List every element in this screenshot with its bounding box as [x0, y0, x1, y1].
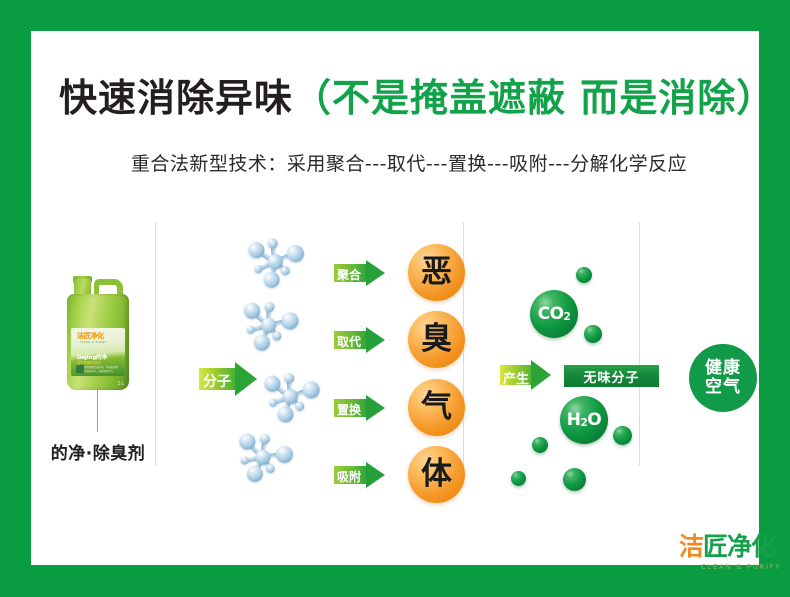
healthy-air-line-2: 空气	[705, 378, 741, 397]
small-green-sphere	[576, 267, 592, 283]
molecule-atom	[260, 317, 276, 333]
h2o-text-b: O	[587, 410, 601, 430]
bottle-label: 洁匠净化 CLEAN & PURIFY Dejing的净 空气清新除臭剂 本品采…	[71, 328, 125, 376]
poster-root: 快速消除异味（不是掩盖遮蔽 而是消除） 重合法新型技术：采用聚合---取代---…	[0, 0, 790, 597]
small-green-sphere	[532, 437, 548, 453]
step-circle-char: 体	[408, 446, 465, 503]
molecule-arrow: 分子	[199, 362, 257, 396]
molecule-atom	[286, 244, 305, 263]
arrow-shape: 分子	[199, 362, 257, 396]
step-circle-char: 臭	[408, 311, 465, 368]
h2o-sphere: H2O	[560, 396, 608, 444]
co2-subscript: 2	[564, 311, 571, 323]
product-caption: 的净·除臭剂	[45, 439, 151, 464]
molecule-atom	[272, 331, 282, 341]
produce-arrow-label: 产生	[503, 368, 529, 387]
arrow-head-icon	[366, 260, 385, 286]
molecule-atom	[269, 399, 277, 407]
healthy-air-line-1: 健康	[705, 359, 741, 378]
bottle-body: 洁匠净化 CLEAN & PURIFY Dejing的净 空气清新除臭剂 本品采…	[67, 294, 129, 390]
molecule-atom	[246, 465, 264, 483]
arrow-head-icon	[531, 360, 551, 390]
step-circle-4: 体	[408, 446, 465, 503]
molecule-atom	[267, 238, 278, 249]
arrow-head-icon	[235, 362, 257, 396]
step-circle-char: 气	[408, 379, 465, 436]
footer-logo-orange-char: 洁	[679, 532, 703, 561]
molecule-atom	[281, 311, 299, 329]
footer-logo-green-chars: 匠净化	[703, 532, 775, 561]
arrow-head-icon	[366, 462, 385, 488]
step-arrow-adsorb: 吸附	[334, 462, 386, 488]
molecule-atom	[265, 463, 275, 473]
bottle-label-seal-icon	[76, 365, 84, 373]
footer-logo: 洁匠净化 ® CLEAN & PURIFY	[679, 534, 787, 576]
h2o-label: H2O	[560, 396, 608, 444]
produce-arrow: 产生	[500, 360, 552, 390]
small-green-sphere	[511, 471, 526, 486]
small-green-sphere	[563, 468, 586, 491]
product-bottle-icon: 洁匠净化 CLEAN & PURIFY Dejing的净 空气清新除臭剂 本品采…	[67, 276, 129, 390]
step-circle-2: 臭	[408, 311, 465, 368]
molecule-atom	[247, 325, 256, 334]
molecule-atom	[253, 334, 270, 351]
molecule-atom	[254, 265, 263, 274]
co2-label: CO2	[530, 290, 578, 338]
registered-mark-icon: ®	[770, 535, 777, 543]
step-circle-1: 恶	[408, 244, 465, 301]
molecule-atom	[240, 456, 249, 465]
molecule-atom	[302, 381, 320, 399]
footer-logo-tagline: CLEAN & PURIFY	[701, 563, 781, 571]
arrow-head-icon	[366, 327, 385, 353]
molecule-atom	[295, 401, 304, 410]
molecule-cluster	[227, 427, 300, 494]
step-arrow-label: 置换	[337, 401, 361, 418]
molecule-atom	[280, 265, 290, 275]
footer-logo-wordmark: 洁匠净化	[679, 534, 775, 559]
molecule-atom	[264, 302, 275, 313]
step-circle-3: 气	[408, 379, 465, 436]
bottle-brand-text: 洁匠净化	[77, 332, 104, 340]
odorless-molecule-bar: 无味分子	[564, 365, 659, 387]
healthy-air-badge: 健康 空气	[689, 344, 757, 412]
arrow-head-icon	[366, 395, 385, 421]
product-block: 洁匠净化 CLEAN & PURIFY Dejing的净 空气清新除臭剂 本品采…	[45, 276, 151, 491]
molecule-atom	[263, 271, 281, 289]
bottle-volume-text: 5 L	[118, 381, 124, 386]
step-arrow-label: 聚合	[337, 266, 361, 283]
odorless-label: 无味分子	[583, 367, 639, 386]
molecule-atom	[266, 253, 282, 269]
step-arrow-label: 吸附	[337, 468, 361, 485]
molecule-cluster	[241, 232, 313, 297]
subtitle: 重合法新型技术：采用聚合---取代---置换---吸附---分解化学反应	[59, 149, 759, 176]
molecule-cluster	[258, 369, 326, 429]
small-green-sphere	[584, 325, 602, 343]
step-arrow-substitute: 取代	[334, 327, 386, 353]
small-green-sphere	[613, 426, 632, 445]
step-arrow-label: 取代	[337, 333, 361, 350]
molecule-atom	[259, 433, 270, 444]
step-arrow-polymerize: 聚合	[334, 260, 386, 286]
h2o-text-a: H	[567, 410, 581, 430]
step-circle-char: 恶	[408, 244, 465, 301]
headline-dark-part: 快速消除异味	[59, 76, 293, 120]
caption-leader-line	[97, 390, 98, 432]
page-title: 快速消除异味（不是掩盖遮蔽 而是消除）	[59, 78, 759, 120]
inner-white-card: 快速消除异味（不是掩盖遮蔽 而是消除） 重合法新型技术：采用聚合---取代---…	[31, 31, 759, 565]
co2-text: CO	[538, 304, 564, 324]
step-arrow-displace: 置换	[334, 395, 386, 421]
molecule-atom	[274, 444, 293, 463]
molecule-arrow-label: 分子	[203, 371, 231, 391]
molecule-cluster	[235, 297, 305, 359]
molecule-atom	[282, 388, 298, 404]
panel-divider-3	[639, 222, 640, 466]
headline-green-part: （不是掩盖遮蔽 而是消除）	[293, 76, 775, 120]
bottle-label-brand: 洁匠净化	[77, 333, 104, 340]
h2o-subscript: 2	[580, 417, 587, 429]
co2-sphere: CO2	[530, 290, 578, 338]
bottle-label-brand-sub: CLEAN & PURIFY	[80, 341, 107, 344]
panel-divider-1	[155, 222, 156, 466]
molecule-atom	[284, 373, 294, 383]
molecule-atom	[277, 406, 294, 423]
